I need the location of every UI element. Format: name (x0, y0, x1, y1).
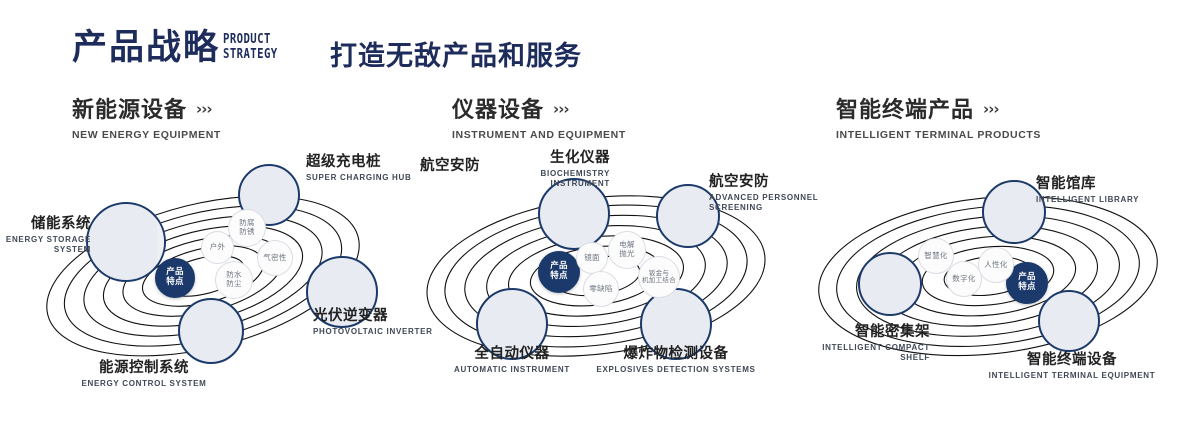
section-heading-instruments: 仪器设备››› INSTRUMENT AND EQUIPMENT (452, 96, 626, 141)
terminal-kiosk-photo (1040, 292, 1100, 352)
page-slogan: 打造无敌产品和服务 (330, 34, 582, 73)
energy-storage-cabinet-photo (88, 204, 166, 282)
label-en: INTELLIGENT TERMINAL EQUIPMENT (962, 371, 1182, 381)
label-biochemistry-instrument: 生化仪器 BIOCHEMISTRY INSTRUMENT (430, 150, 610, 189)
chevron-right-icon: ››› (196, 96, 212, 122)
label-energy-storage: 储能系统 ENERGY STORAGE SYSTEM (5, 216, 91, 255)
label-zh: 能源控制系统 (44, 360, 244, 377)
label-energy-control-system: 能源控制系统 ENERGY CONTROL SYSTEM (44, 360, 244, 389)
feature-bubble-zero-defect: 零缺陷 (583, 271, 619, 307)
label-intelligent-library: 智能馆库 INTELLIGENT LIBRARY (1036, 176, 1139, 205)
control-cabinet-photo (180, 300, 244, 364)
page-title-english-line2: STRATEGY (223, 47, 297, 62)
label-en: INTELLIGENT LIBRARY (1036, 195, 1139, 205)
page-title-english: PRODUCT STRATEGY (223, 32, 297, 62)
label-en: ENERGY STORAGE SYSTEM (5, 235, 91, 255)
section-heading-new-energy: 新能源设备››› NEW ENERGY EQUIPMENT (72, 96, 221, 141)
label-en: BIOCHEMISTRY INSTRUMENT (430, 169, 610, 189)
feature-bubble-humanized: 人性化 (978, 247, 1014, 283)
node-energy-control-system[interactable] (178, 298, 244, 364)
page-title-english-line1: PRODUCT (223, 32, 271, 47)
node-intelligent-terminal-equipment[interactable] (1038, 290, 1100, 352)
feature-bubble-sheet-metal-machining: 钣金与机加工结合 (638, 256, 680, 298)
label-zh: 爆炸物检测设备 (576, 346, 776, 363)
feature-bubble-digital: 数字化 (946, 261, 982, 297)
label-en: INTELLIGENT COMPACT SHELF (780, 343, 930, 363)
chevron-right-icon: ››› (983, 96, 999, 122)
feature-bubble-mirror-finish: 镜面 (576, 242, 608, 274)
section-heading-en: INSTRUMENT AND EQUIPMENT (452, 129, 626, 141)
compact-shelf-photo (860, 254, 922, 316)
label-zh: 储能系统 (5, 216, 91, 233)
section-heading-intelligent-terminal: 智能终端产品››› INTELLIGENT TERMINAL PRODUCTS (836, 96, 1041, 141)
diagram-new-energy: 储能系统 ENERGY STORAGE SYSTEM 超级充电桩 SUPER C… (10, 148, 410, 410)
node-intelligent-compact-shelf[interactable] (858, 252, 922, 316)
feature-bubble-waterproof: 防水防尘 (215, 261, 253, 299)
section-heading-zh: 智能终端产品››› (836, 96, 1041, 124)
chevron-right-icon: ››› (553, 96, 569, 122)
section-heading-en: INTELLIGENT TERMINAL PRODUCTS (836, 129, 1041, 141)
diagram-instruments: 航空安防 生化仪器 BIOCHEMISTRY INSTRUMENT 航空 (400, 148, 800, 410)
label-zh: 生化仪器 (430, 150, 610, 167)
label-en: EXPLOSIVES DETECTION SYSTEMS (576, 365, 776, 375)
label-intelligent-compact-shelf: 智能密集架 INTELLIGENT COMPACT SHELF (780, 324, 930, 363)
diagram-intelligent-terminal: 智能馆库 INTELLIGENT LIBRARY 智能密集架 (790, 148, 1190, 410)
label-zh: 智能密集架 (780, 324, 930, 341)
product-strategy-infographic: 产品战略 PRODUCT STRATEGY 打造无敌产品和服务 新能源设备›››… (0, 0, 1200, 422)
label-en: ENERGY CONTROL SYSTEM (44, 379, 244, 389)
label-explosives-detection: 爆炸物检测设备 EXPLOSIVES DETECTION SYSTEMS (576, 346, 776, 375)
core-bubble-product-features: 产品特点 (538, 251, 580, 293)
feature-bubble-airtightness: 气密性 (257, 240, 293, 276)
section-heading-en: NEW ENERGY EQUIPMENT (72, 129, 221, 141)
page-header: 产品战略 PRODUCT STRATEGY 打造无敌产品和服务 (0, 0, 1200, 88)
label-zh: 智能终端设备 (962, 352, 1182, 369)
security-scanner-photo (540, 180, 610, 250)
page-title: 产品战略 (72, 28, 220, 68)
label-intelligent-terminal-equipment: 智能终端设备 INTELLIGENT TERMINAL EQUIPMENT (962, 352, 1182, 381)
node-energy-storage[interactable] (86, 202, 166, 282)
feature-bubble-anti-corrosion: 防腐防锈 (228, 209, 266, 247)
core-bubble-product-features: 产品特点 (155, 258, 195, 298)
section-heading-zh: 仪器设备››› (452, 96, 626, 124)
label-zh: 智能馆库 (1036, 176, 1139, 193)
section-heading-zh: 新能源设备››› (72, 96, 221, 124)
feature-bubble-electropolishing: 电解抛光 (608, 231, 646, 269)
